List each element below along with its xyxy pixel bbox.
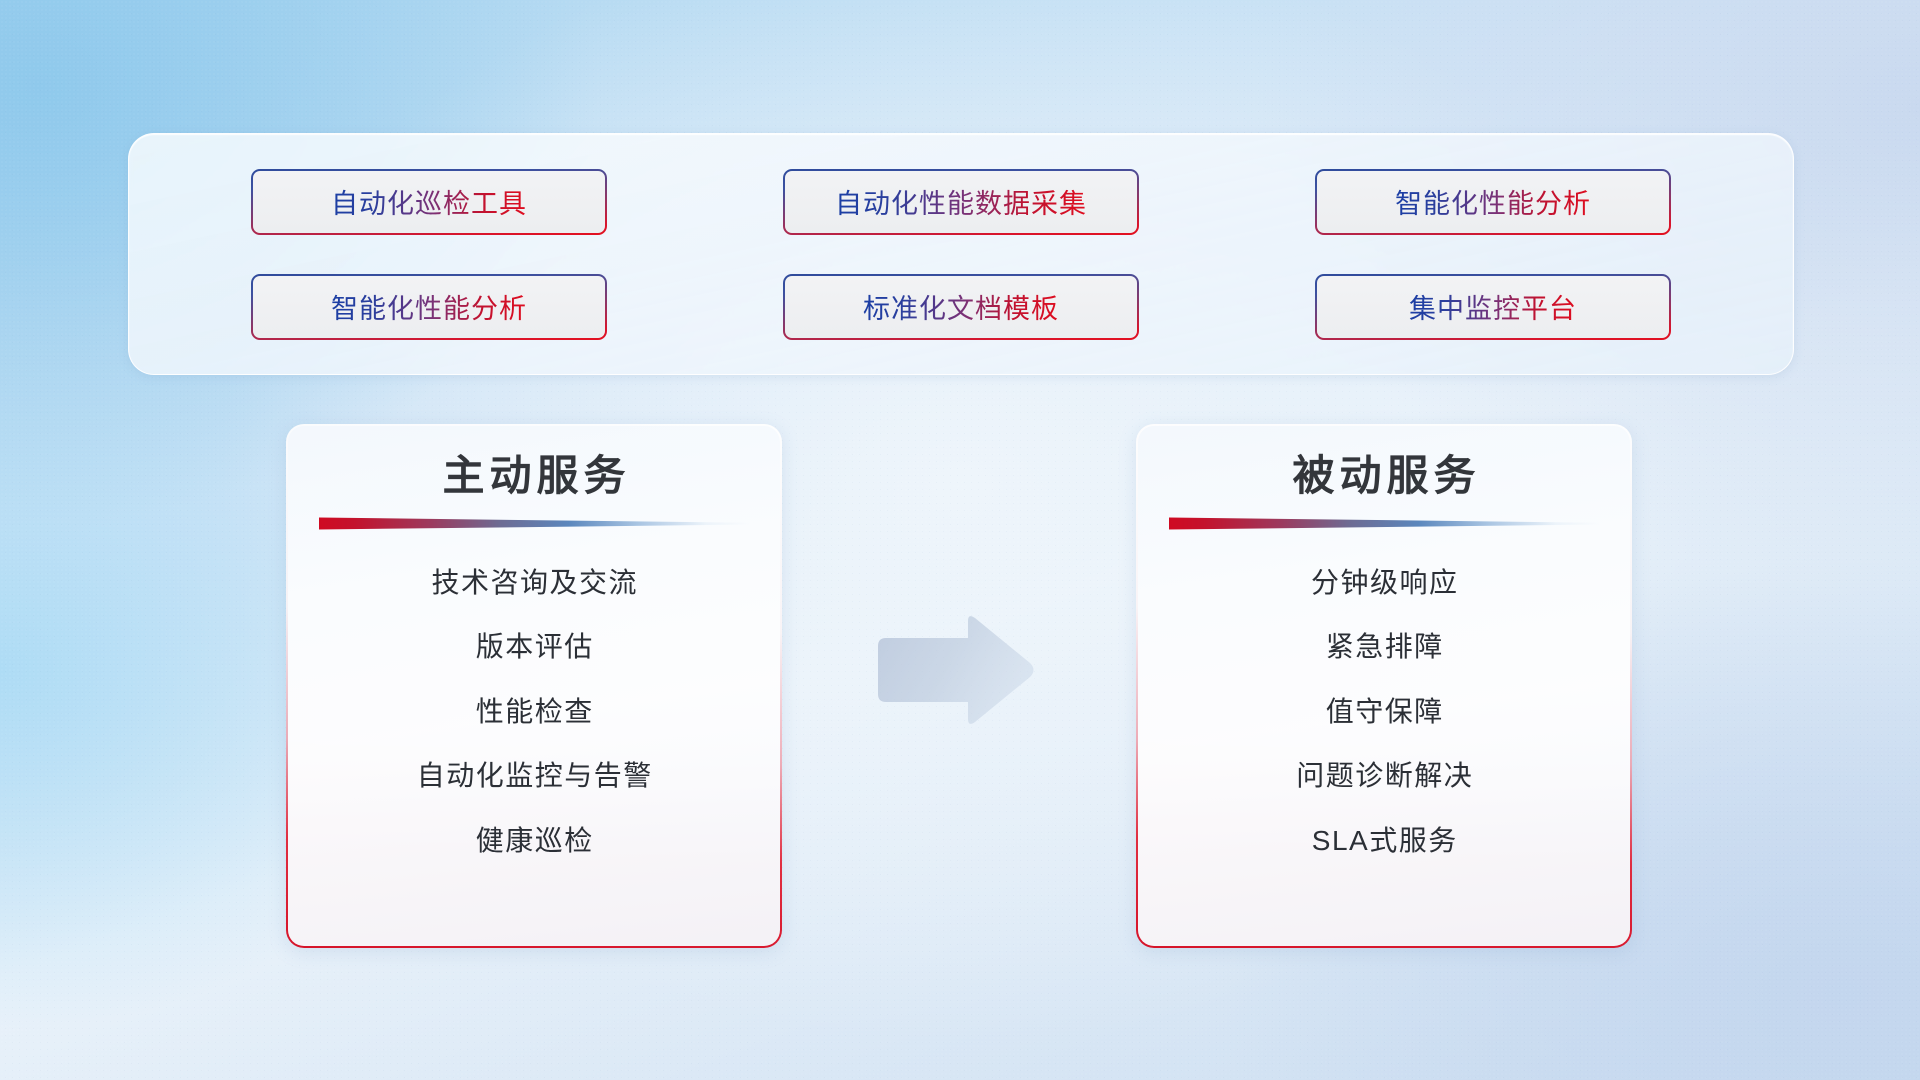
list-item: 版本评估: [474, 630, 594, 664]
capability-pill-1[interactable]: 自动化巡检工具: [251, 169, 607, 235]
capability-pill-5[interactable]: 标准化文档模板: [783, 274, 1139, 340]
service-card-active-divider: [319, 517, 749, 530]
capability-pill-grid: 自动化巡检工具 自动化性能数据采集 智能化性能分析 智能化性能分析 标准化文档模…: [129, 134, 1793, 374]
list-item: 分钟级响应: [1309, 566, 1458, 600]
arrow-right-icon: [872, 612, 1036, 728]
capability-pill-1-inner: 自动化巡检工具: [253, 171, 605, 233]
list-item: 紧急排障: [1324, 630, 1444, 664]
capability-pill-6-label: 集中监控平台: [1409, 287, 1577, 326]
capability-pill-3[interactable]: 智能化性能分析: [1315, 169, 1671, 235]
capability-pill-2-label: 自动化性能数据采集: [835, 182, 1087, 221]
capability-pill-2-inner: 自动化性能数据采集: [785, 171, 1137, 233]
list-item: 技术咨询及交流: [430, 566, 638, 600]
capability-pill-3-label: 智能化性能分析: [1395, 182, 1591, 221]
capability-pill-5-label: 标准化文档模板: [863, 287, 1059, 326]
list-item: 问题诊断解决: [1295, 759, 1474, 793]
service-card-active-title: 主动服务: [437, 450, 630, 503]
capability-pill-4-inner: 智能化性能分析: [253, 276, 605, 338]
service-card-passive-list: 分钟级响应 紧急排障 值守保障 问题诊断解决 SLA式服务: [1138, 530, 1630, 858]
service-card-active[interactable]: 主动服务 技术咨询及交流 版本评估 性能检查 自动化监控与告警 健康巡检: [286, 424, 782, 948]
capability-panel: 自动化巡检工具 自动化性能数据采集 智能化性能分析 智能化性能分析 标准化文档模…: [128, 133, 1794, 375]
capability-pill-2[interactable]: 自动化性能数据采集: [783, 169, 1139, 235]
list-item: 值守保障: [1324, 695, 1444, 729]
capability-pill-4[interactable]: 智能化性能分析: [251, 274, 607, 340]
divider-gradient-bar: [1169, 517, 1599, 530]
capability-pill-6[interactable]: 集中监控平台: [1315, 274, 1671, 340]
service-card-active-inner: 主动服务 技术咨询及交流 版本评估 性能检查 自动化监控与告警 健康巡检: [288, 426, 780, 946]
service-card-passive[interactable]: 被动服务 分钟级响应 紧急排障 值守保障 问题诊断解决 SLA式服务: [1136, 424, 1632, 948]
list-item: 自动化监控与告警: [415, 759, 653, 793]
service-card-active-list: 技术咨询及交流 版本评估 性能检查 自动化监控与告警 健康巡检: [288, 530, 780, 858]
service-card-passive-title: 被动服务: [1287, 450, 1480, 503]
capability-pill-1-label: 自动化巡检工具: [331, 182, 527, 221]
capability-pill-6-inner: 集中监控平台: [1317, 276, 1669, 338]
capability-pill-4-label: 智能化性能分析: [331, 287, 527, 326]
list-item: 性能检查: [474, 695, 594, 729]
capability-pill-5-inner: 标准化文档模板: [785, 276, 1137, 338]
list-item: SLA式服务: [1310, 824, 1457, 858]
divider-gradient-bar: [319, 517, 749, 530]
list-item: 健康巡检: [474, 824, 594, 858]
service-card-passive-inner: 被动服务 分钟级响应 紧急排障 值守保障 问题诊断解决 SLA式服务: [1138, 426, 1630, 946]
service-card-passive-divider: [1169, 517, 1599, 530]
capability-pill-3-inner: 智能化性能分析: [1317, 171, 1669, 233]
